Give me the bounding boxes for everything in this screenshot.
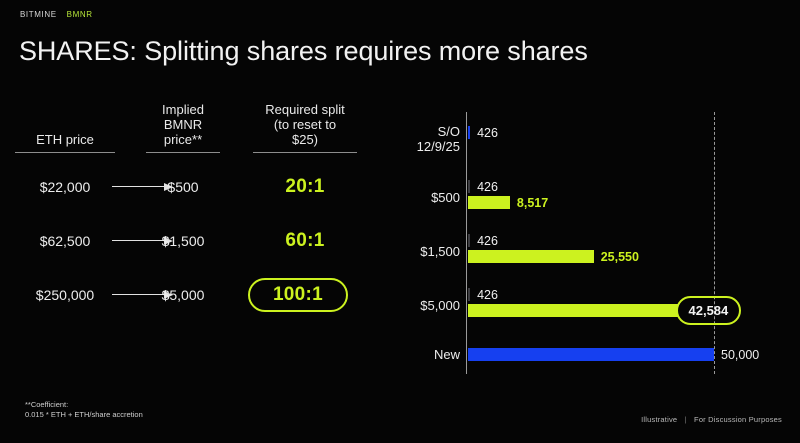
cell-implied-price: $5,000 bbox=[140, 282, 226, 308]
column-header-implied-bmnr-price: Implied BMNR price** bbox=[140, 102, 226, 147]
disclaimer: Illustrative | For Discussion Purposes bbox=[641, 415, 782, 424]
chart-bar-current-shares bbox=[468, 234, 470, 247]
column-header-required-split: Required split (to reset to $25) bbox=[240, 102, 370, 147]
table-row: $250,000 $5,000 100:1 bbox=[0, 282, 385, 308]
column-rule bbox=[15, 152, 115, 153]
disclaimer-separator: | bbox=[685, 415, 687, 424]
chart-reference-line bbox=[714, 112, 715, 374]
footnote-line1: **Coefficient: bbox=[25, 400, 143, 410]
column-header-eth-price-text: ETH price bbox=[36, 132, 94, 147]
chart-bar-value-label: 50,000 bbox=[721, 349, 759, 362]
chart-category-label-line1: S/O bbox=[390, 124, 460, 139]
brand-bitmine-label: BITMINE bbox=[20, 10, 57, 19]
cell-required-split-highlighted: 100:1 bbox=[248, 278, 348, 312]
disclaimer-right: For Discussion Purposes bbox=[694, 415, 782, 424]
chart-bar-current-shares bbox=[468, 126, 470, 139]
column-header-split-line1: Required split bbox=[265, 102, 345, 117]
table-row: $22,000 $500 20:1 bbox=[0, 174, 385, 200]
cell-implied-price: $500 bbox=[140, 174, 226, 200]
column-header-implied-line2: BMNR bbox=[164, 117, 202, 132]
chart-category-label: S/O12/9/25 bbox=[390, 124, 460, 154]
chart-bar-post-split-shares bbox=[468, 304, 678, 317]
disclaimer-left: Illustrative bbox=[641, 415, 677, 424]
shares-bar-chart: S/O12/9/25426$5004268,517$1,50042625,550… bbox=[390, 112, 800, 380]
column-header-implied-line1: Implied bbox=[162, 102, 204, 117]
chart-bar-current-shares bbox=[468, 288, 470, 301]
chart-bar-value-label: 8,517 bbox=[517, 197, 548, 210]
chart-category-label-line2: 12/9/25 bbox=[390, 139, 460, 154]
column-rule bbox=[253, 152, 357, 153]
cell-implied-price: $1,500 bbox=[140, 228, 226, 254]
cell-eth-price: $22,000 bbox=[10, 174, 120, 200]
page-title: SHARES: Splitting shares requires more s… bbox=[19, 36, 588, 67]
chart-bar-value-label: 426 bbox=[477, 181, 498, 194]
chart-bar-post-split-shares bbox=[468, 250, 594, 263]
chart-bar-new-authorized-shares bbox=[468, 348, 714, 361]
chart-bar-post-split-shares bbox=[468, 196, 510, 209]
footnote-line2: 0.015 * ETH + ETH/share accretion bbox=[25, 410, 143, 420]
chart-category-label: $5,000 bbox=[390, 298, 460, 313]
table-row: $62,500 $1,500 60:1 bbox=[0, 228, 385, 254]
cell-eth-price: $250,000 bbox=[10, 282, 120, 308]
chart-category-label: $1,500 bbox=[390, 244, 460, 259]
chart-bar-value-label: 426 bbox=[477, 235, 498, 248]
cell-required-split: 60:1 bbox=[240, 228, 370, 254]
table-header-row: ETH price Implied BMNR price** Required … bbox=[0, 88, 385, 150]
column-header-split-line2: (to reset to bbox=[274, 117, 336, 132]
chart-bar-value-label: 42,584 bbox=[676, 296, 742, 325]
column-rule bbox=[146, 152, 220, 153]
cell-required-split: 20:1 bbox=[240, 174, 370, 200]
column-header-implied-line3: price** bbox=[164, 132, 202, 147]
chart-bar-current-shares bbox=[468, 180, 470, 193]
brand-bmnr-ticker: BMNR bbox=[67, 10, 93, 19]
chart-bar-value-label: 25,550 bbox=[601, 251, 639, 264]
chart-bar-value-label: 426 bbox=[477, 127, 498, 140]
chart-bar-value-label: 426 bbox=[477, 289, 498, 302]
footnote: **Coefficient: 0.015 * ETH + ETH/share a… bbox=[25, 400, 143, 420]
brand-bar: BITMINE BMNR bbox=[20, 10, 93, 19]
chart-category-label: $500 bbox=[390, 190, 460, 205]
shares-table: ETH price Implied BMNR price** Required … bbox=[0, 88, 385, 348]
column-header-eth-price: ETH price bbox=[10, 132, 120, 147]
chart-category-label: New bbox=[390, 347, 460, 362]
column-header-split-line3: $25) bbox=[292, 132, 318, 147]
cell-eth-price: $62,500 bbox=[10, 228, 120, 254]
